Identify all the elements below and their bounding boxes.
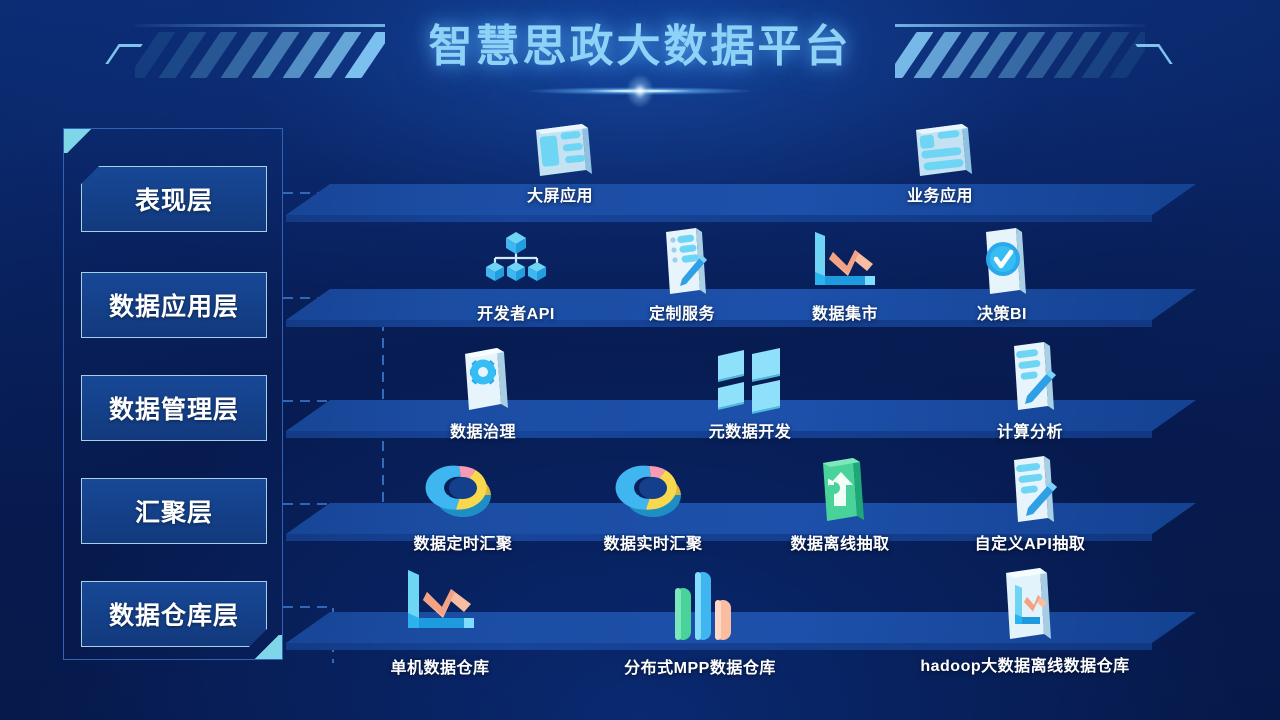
node-label: 开发者API — [436, 300, 596, 324]
business-app-icon — [901, 110, 979, 188]
node-developer-api[interactable]: 开发者API — [436, 228, 596, 320]
node-label: 大屏应用 — [480, 182, 640, 206]
node-standalone-warehouse[interactable]: 单机数据仓库 — [360, 566, 520, 682]
node-scheduled-aggregation[interactable]: 数据定时汇聚 — [383, 452, 543, 550]
line-chart-icon — [803, 228, 887, 298]
line-chart-card-icon — [987, 560, 1063, 648]
node-label: hadoop大数据离线数据仓库 — [885, 652, 1165, 676]
checklist-pen-icon — [647, 222, 717, 302]
grid-four-panel-icon — [710, 344, 790, 420]
node-label: 单机数据仓库 — [360, 654, 520, 678]
node-label: 决策BI — [922, 300, 1082, 324]
node-mpp-warehouse[interactable]: 分布式MPP数据仓库 — [620, 566, 780, 682]
node-label: 数据定时汇聚 — [383, 530, 543, 554]
node-custom-api-extraction[interactable]: 自定义API抽取 — [950, 450, 1110, 550]
donut-chart-icon — [424, 452, 502, 530]
platform-layers: 大屏应用 业务应用 — [0, 0, 1280, 720]
node-label: 业务应用 — [860, 182, 1020, 206]
node-realtime-aggregation[interactable]: 数据实时汇聚 — [573, 452, 733, 550]
green-arrow-card-icon — [803, 450, 877, 532]
node-label: 分布式MPP数据仓库 — [590, 654, 810, 678]
node-dashboard-screen[interactable]: 大屏应用 — [480, 110, 640, 205]
node-label: 定制服务 — [602, 300, 762, 324]
slab-presentation — [0, 184, 1280, 222]
donut-chart-icon — [614, 452, 692, 530]
architecture-diagram: 智慧思政大数据平台 表现层 数据应用层 数据管理层 汇聚层 数据仓库层 — [0, 0, 1280, 720]
node-data-mart[interactable]: 数据集市 — [765, 228, 925, 320]
node-metadata-development[interactable]: 元数据开发 — [670, 340, 830, 436]
slab-edge — [0, 215, 1280, 222]
node-hadoop-warehouse[interactable]: hadoop大数据离线数据仓库 — [945, 560, 1105, 682]
node-tree-icon — [479, 228, 553, 290]
document-pen-icon — [995, 450, 1065, 532]
node-label: 元数据开发 — [670, 418, 830, 442]
dashboard-screen-icon — [521, 110, 599, 188]
node-compute-analysis[interactable]: 计算分析 — [950, 336, 1110, 436]
node-label: 数据离线抽取 — [760, 530, 920, 554]
gear-card-icon — [445, 340, 521, 420]
check-circle-card-icon — [967, 222, 1037, 302]
node-data-governance[interactable]: 数据治理 — [403, 340, 563, 436]
node-label: 数据治理 — [403, 418, 563, 442]
line-chart-axes-icon — [394, 566, 486, 644]
node-label: 数据集市 — [765, 300, 925, 324]
node-label: 自定义API抽取 — [950, 530, 1110, 554]
node-label: 计算分析 — [950, 418, 1110, 442]
node-business-app[interactable]: 业务应用 — [860, 110, 1020, 205]
bar-chart-icon — [657, 566, 743, 650]
node-label: 数据实时汇聚 — [573, 530, 733, 554]
node-decision-bi[interactable]: 决策BI — [922, 222, 1082, 320]
node-offline-extraction[interactable]: 数据离线抽取 — [760, 450, 920, 550]
document-pen-icon — [995, 336, 1065, 420]
node-custom-service[interactable]: 定制服务 — [602, 222, 762, 320]
